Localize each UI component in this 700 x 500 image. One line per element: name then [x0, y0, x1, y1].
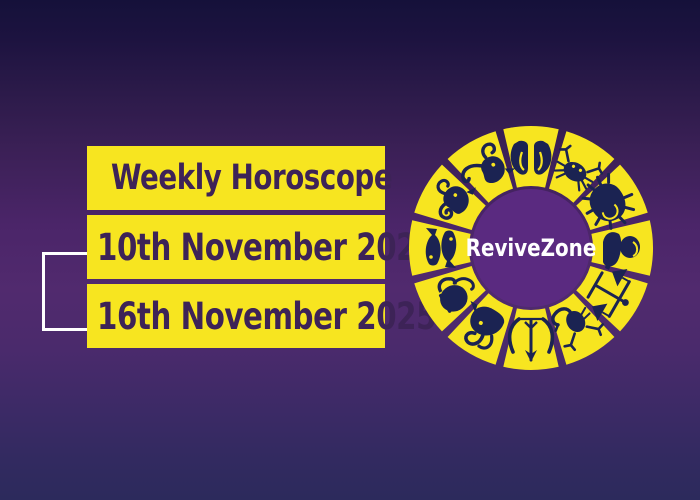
start-date-banner-label: 10th November 2025 [97, 226, 436, 269]
title-banner-label: Weekly Horoscope [111, 158, 392, 198]
start-date-banner: 10th November 2025 [87, 215, 385, 279]
end-date-banner: 16th November 2025 [87, 284, 385, 348]
zodiac-wheel: ReviveZone [406, 123, 656, 373]
poster-canvas: Weekly Horoscope 10th November 2025 16th… [0, 0, 700, 500]
left-bracket-decoration [42, 252, 90, 331]
end-date-banner-label: 16th November 2025 [97, 295, 436, 338]
zodiac-wheel-svg [406, 123, 656, 373]
wheel-hub [472, 189, 590, 307]
title-banner: Weekly Horoscope [87, 146, 385, 210]
